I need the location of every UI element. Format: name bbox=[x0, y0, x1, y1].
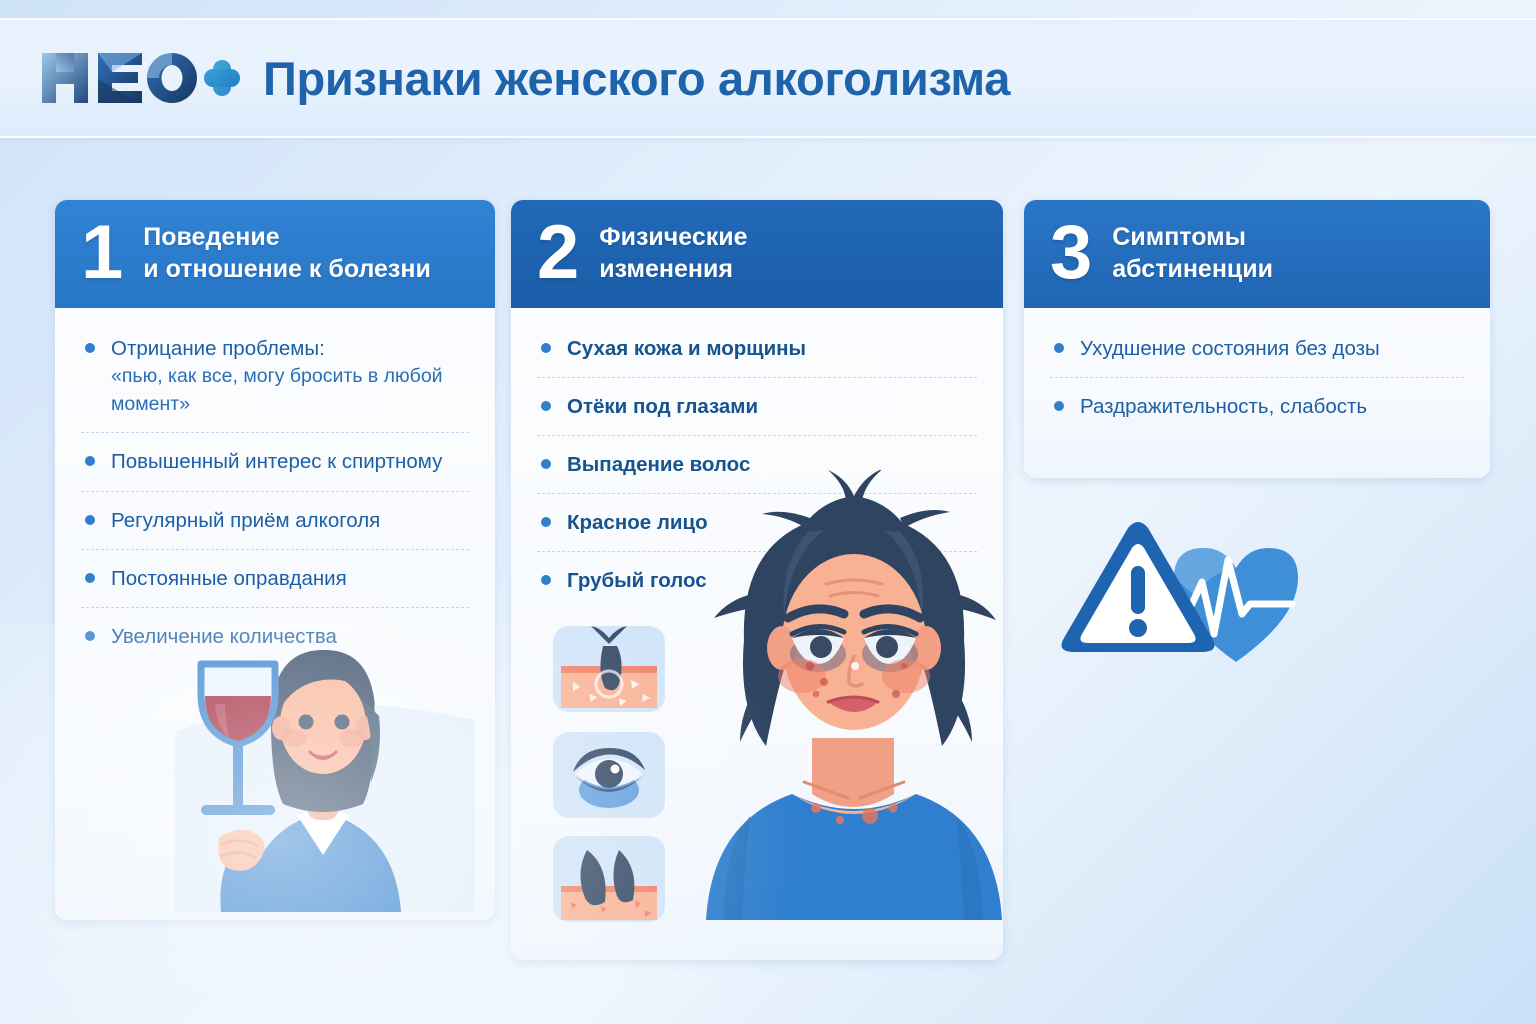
list-item-text: Красное лицо bbox=[567, 511, 708, 534]
card-1-title-line2: и отношение к болезни bbox=[143, 253, 431, 285]
card-3-title: Симптомы абстиненции bbox=[1112, 221, 1273, 285]
card-2-number: 2 bbox=[537, 222, 579, 284]
card-3-header: 3 Симптомы абстиненции bbox=[1024, 200, 1490, 308]
woman-with-wine-glass-illustration bbox=[175, 612, 475, 912]
list-item: Регулярный приём алкоголя bbox=[81, 506, 469, 550]
card-3-list: Ухудшение состояния без дозы Раздражител… bbox=[1050, 334, 1464, 421]
column-3: 3 Симптомы абстиненции Ухудшение состоян… bbox=[1024, 200, 1490, 478]
skin-pore-icon bbox=[553, 626, 665, 712]
list-item: Постоянные оправдания bbox=[81, 564, 469, 608]
hair-loss-icon bbox=[553, 836, 665, 922]
card-1-number: 1 bbox=[81, 222, 123, 284]
card-3-title-line1: Симптомы bbox=[1112, 223, 1246, 251]
list-item-subtext: «пью, как все, могу бросить в любой моме… bbox=[111, 363, 469, 418]
warning-and-heartbeat-illustration bbox=[1052, 512, 1332, 672]
list-item: Раздражительность, слабость bbox=[1050, 392, 1464, 421]
eye-bag-icon bbox=[553, 732, 665, 818]
list-item-text: Повышенный интерес к спиртному bbox=[111, 450, 442, 473]
card-1-list: Отрицание проблемы: «пью, как все, могу … bbox=[81, 334, 469, 651]
list-item-text: Отёки под глазами bbox=[567, 395, 758, 418]
card-1-header: 1 Поведение и отношение к болезни bbox=[55, 200, 495, 308]
tired-woman-illustration bbox=[688, 470, 1018, 920]
list-item-text: Отрицание проблемы: bbox=[111, 337, 325, 360]
neo-plus-logo bbox=[36, 47, 241, 109]
list-item: Ухудшение состояния без дозы bbox=[1050, 334, 1464, 378]
list-item-text: Грубый голос bbox=[567, 569, 707, 592]
card-3-title-line2: абстиненции bbox=[1112, 253, 1273, 285]
card-1-title: Поведение и отношение к болезни bbox=[143, 221, 431, 285]
card-withdrawal: 3 Симптомы абстиненции Ухудшение состоян… bbox=[1024, 200, 1490, 478]
infographic-page: Признаки женского алкоголизма 1 Поведени… bbox=[0, 0, 1536, 1024]
list-item-text: Сухая кожа и морщины bbox=[567, 337, 806, 360]
page-header: Признаки женского алкоголизма bbox=[0, 18, 1536, 138]
list-item-text: Ухудшение состояния без дозы bbox=[1080, 337, 1380, 360]
card-2-header: 2 Физические изменения bbox=[511, 200, 1003, 308]
list-item: Повышенный интерес к спиртному bbox=[81, 447, 469, 491]
list-item: Отёки под глазами bbox=[537, 392, 977, 436]
list-item: Отрицание проблемы: «пью, как все, могу … bbox=[81, 334, 469, 433]
page-title: Признаки женского алкоголизма bbox=[263, 51, 1010, 106]
card-2-title: Физические изменения bbox=[599, 221, 747, 285]
card-3-number: 3 bbox=[1050, 222, 1092, 284]
list-item-text: Постоянные оправдания bbox=[111, 567, 347, 590]
card-1-title-line1: Поведение bbox=[143, 223, 279, 251]
card-2-title-line1: Физические bbox=[599, 223, 747, 251]
list-item-text: Регулярный приём алкоголя bbox=[111, 509, 380, 532]
physical-icons-strip bbox=[545, 622, 675, 922]
card-3-body: Ухудшение состояния без дозы Раздражител… bbox=[1024, 308, 1490, 439]
card-2-title-line2: изменения bbox=[599, 253, 747, 285]
list-item-text: Раздражительность, слабость bbox=[1080, 395, 1367, 418]
list-item: Сухая кожа и морщины bbox=[537, 334, 977, 378]
